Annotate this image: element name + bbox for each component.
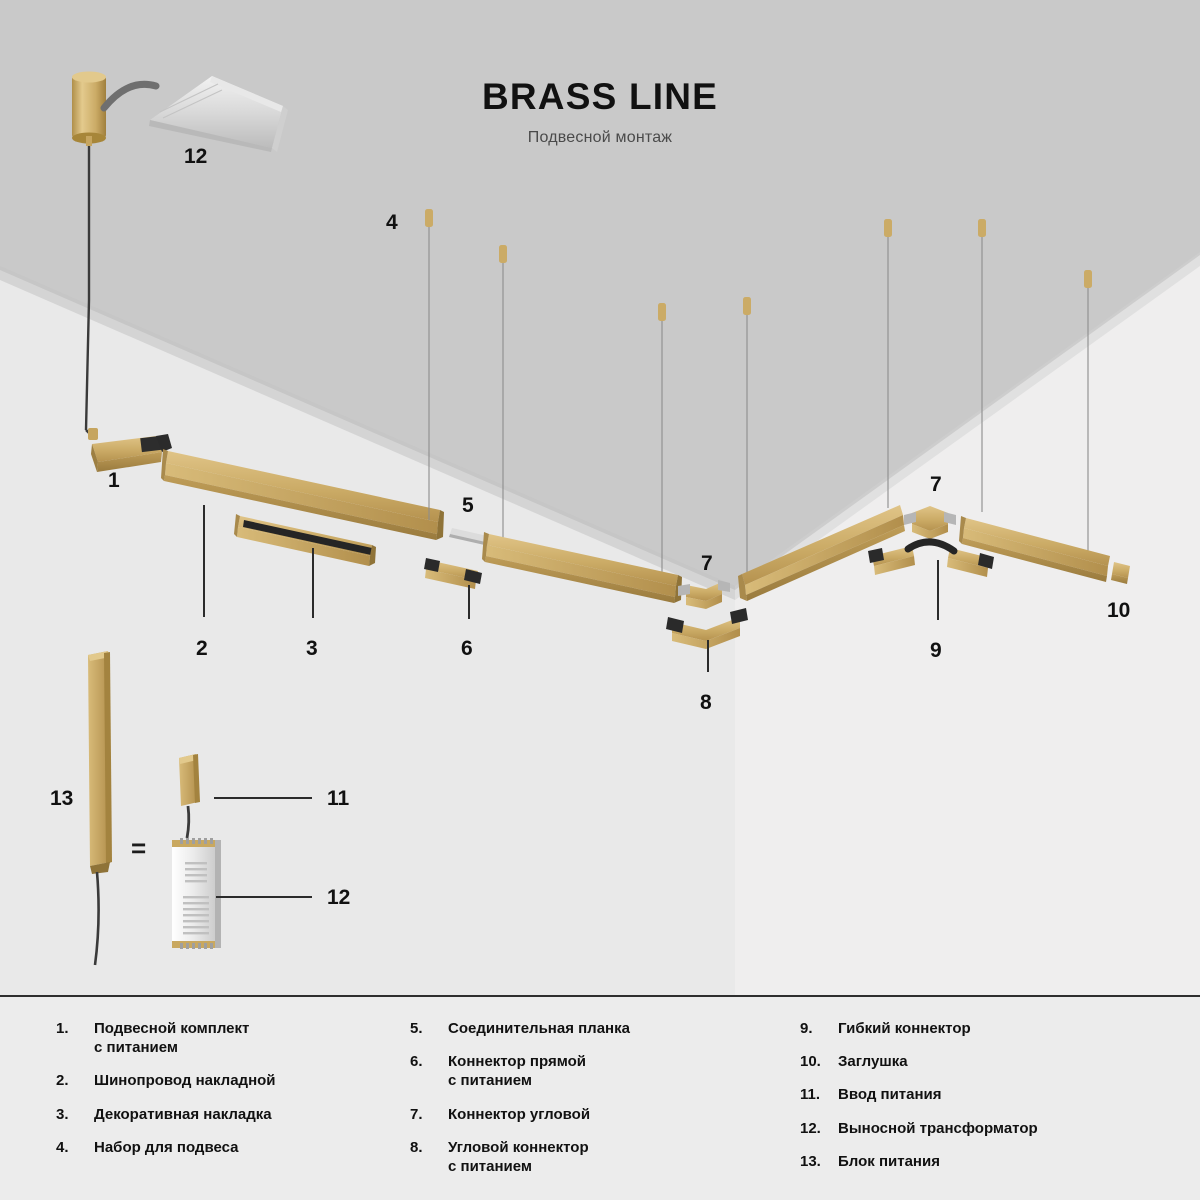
legend-number: 10.	[800, 1052, 838, 1071]
part-7-corner-connector-center	[678, 580, 730, 609]
part-1-suspension-power-kit	[86, 428, 172, 472]
callout-4: 4	[386, 212, 398, 233]
legend-label: Декоративная накладка	[94, 1105, 272, 1124]
leader-line-2	[203, 505, 205, 617]
part-12-remote-transformer	[172, 838, 221, 949]
legend-item-13: 13. Блок питания	[800, 1152, 1200, 1171]
room-scene: = 1 2 3 4 5 6 7 8 7 9 10 11 12 12 13	[0, 0, 1200, 995]
legend-number: 6.	[410, 1052, 448, 1071]
legend-label: Заглушка	[838, 1052, 908, 1071]
legend-item-9: 9. Гибкий коннектор	[800, 1019, 1200, 1038]
leader-line-8	[707, 640, 709, 672]
callout-9: 9	[930, 640, 942, 661]
callout-2: 2	[196, 638, 208, 659]
callout-5: 5	[462, 495, 474, 516]
legend-item-11: 11. Ввод питания	[800, 1085, 1200, 1104]
legend-item-7: 7. Коннектор угловой	[410, 1105, 790, 1124]
callout-10: 10	[1107, 600, 1130, 621]
legend-number: 5.	[410, 1019, 448, 1038]
part-6-straight-connector-power	[424, 558, 482, 589]
legend-number: 2.	[56, 1071, 94, 1090]
leader-line-9	[937, 560, 939, 620]
legend-column-2: 5. Соединительная планка 6. Коннектор пр…	[400, 1019, 790, 1190]
callout-11: 11	[327, 788, 349, 809]
legend-number: 1.	[56, 1019, 94, 1038]
legend-label: Ввод питания	[838, 1085, 942, 1104]
legend-number: 11.	[800, 1085, 838, 1104]
legend-item-4: 4. Набор для подвеса	[56, 1138, 400, 1157]
legend-number: 12.	[800, 1119, 838, 1138]
leader-line-12	[216, 896, 312, 898]
callout-13: 13	[50, 788, 73, 809]
headline-block: BRASS LINE Подвесной монтаж	[0, 78, 1200, 147]
part-11-power-input	[179, 754, 200, 838]
components-artwork	[0, 0, 1200, 995]
legend-label: Подвесной комплект с питанием	[94, 1019, 249, 1057]
product-diagram-page: = 1 2 3 4 5 6 7 8 7 9 10 11 12 12 13 BRA…	[0, 0, 1200, 1200]
legend-number: 4.	[56, 1138, 94, 1157]
legend-label: Коннектор прямой с питанием	[448, 1052, 586, 1090]
legend-item-3: 3. Декоративная накладка	[56, 1105, 400, 1124]
callout-12-top: 12	[184, 146, 207, 167]
legend-label: Соединительная планка	[448, 1019, 630, 1038]
legend-number: 9.	[800, 1019, 838, 1038]
legend-item-1: 1. Подвесной комплект с питанием	[56, 1019, 400, 1057]
leader-line-11	[214, 797, 312, 799]
legend-number: 7.	[410, 1105, 448, 1124]
legend-item-6: 6. Коннектор прямой с питанием	[410, 1052, 790, 1090]
callout-6: 6	[461, 638, 473, 659]
legend-label: Выносной трансформатор	[838, 1119, 1038, 1138]
legend-column-1: 1. Подвесной комплект с питанием 2. Шино…	[0, 1019, 400, 1190]
leader-line-3	[312, 548, 314, 618]
legend-label: Шинопровод накладной	[94, 1071, 276, 1090]
page-title: BRASS LINE	[0, 78, 1200, 115]
legend-label: Блок питания	[838, 1152, 940, 1171]
part-10-end-cap	[1111, 562, 1130, 584]
leader-line-6	[468, 585, 470, 619]
legend-label: Набор для подвеса	[94, 1138, 239, 1157]
part-13-power-supply-unit	[88, 651, 112, 965]
legend-item-10: 10. Заглушка	[800, 1052, 1200, 1071]
legend-panel: 1. Подвесной комплект с питанием 2. Шино…	[0, 995, 1200, 1200]
legend-label: Коннектор угловой	[448, 1105, 590, 1124]
part-7-corner-connector-right	[904, 506, 956, 539]
callout-7-right: 7	[930, 474, 942, 495]
callout-3: 3	[306, 638, 318, 659]
legend-label: Угловой коннектор с питанием	[448, 1138, 589, 1176]
part-4-suspension-wires	[425, 209, 1092, 578]
legend-item-8: 8. Угловой коннектор с питанием	[410, 1138, 790, 1176]
legend-item-2: 2. Шинопровод накладной	[56, 1071, 400, 1090]
callout-7-center: 7	[701, 553, 713, 574]
legend-number: 13.	[800, 1152, 838, 1171]
equals-sign: =	[131, 833, 146, 864]
legend-item-12: 12. Выносной трансформатор	[800, 1119, 1200, 1138]
track-segment-center	[482, 532, 682, 603]
legend-number: 8.	[410, 1138, 448, 1157]
page-subtitle: Подвесной монтаж	[0, 129, 1200, 147]
callout-1: 1	[108, 470, 120, 491]
callout-8: 8	[700, 692, 712, 713]
callout-12: 12	[327, 887, 350, 908]
legend-number: 3.	[56, 1105, 94, 1124]
legend-item-5: 5. Соединительная планка	[410, 1019, 790, 1038]
legend-label: Гибкий коннектор	[838, 1019, 971, 1038]
legend-column-3: 9. Гибкий коннектор 10. Заглушка 11. Вво…	[790, 1019, 1200, 1190]
